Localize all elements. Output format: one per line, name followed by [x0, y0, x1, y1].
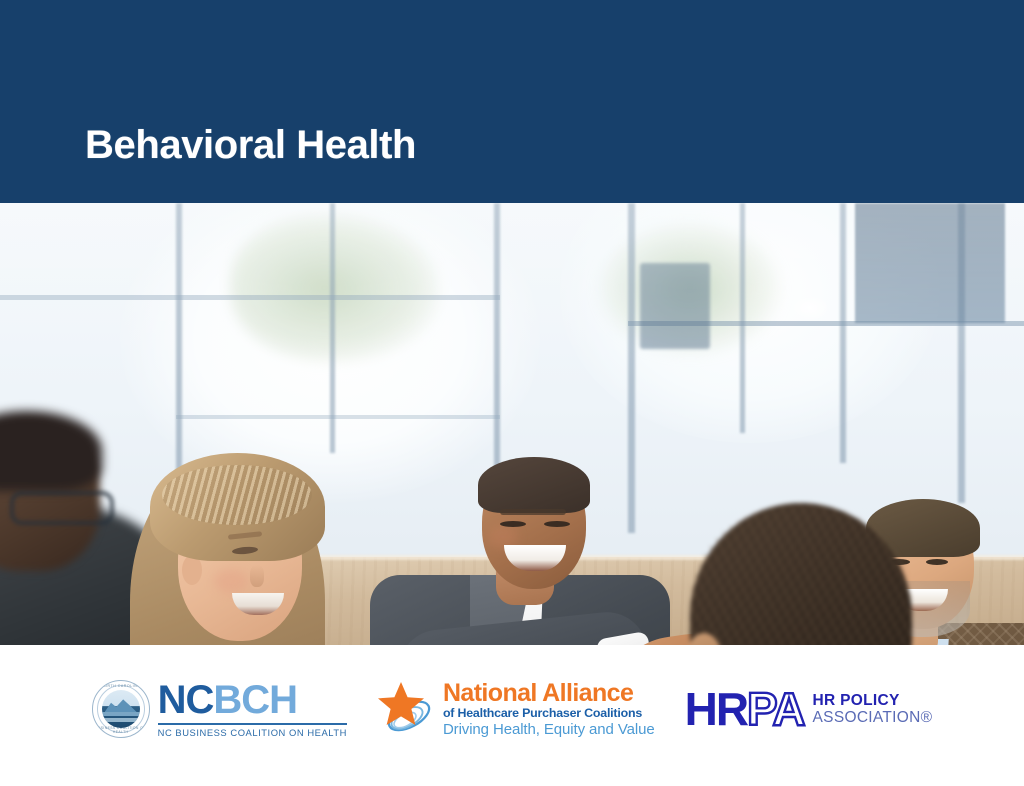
na-line-2: of Healthcare Purchaser Coalitions — [443, 707, 655, 720]
hero-photo — [0, 203, 1024, 645]
man-grey-suit-eyebrows — [500, 509, 566, 515]
photo-top-haze — [0, 203, 1024, 383]
hrpa-wordmark: HR POLICY ASSOCIATION® — [813, 692, 933, 727]
ncbch-nc: NC — [158, 678, 214, 722]
hrpa-mark-hr: HR — [685, 683, 747, 735]
ncbch-divider — [158, 723, 347, 725]
page-title-line-1: Behavioral Health — [85, 119, 645, 172]
ncbch-letters: NCBCH — [158, 680, 347, 720]
seal-landscape — [102, 690, 140, 728]
logo-hrpa[interactable]: HRPA HR POLICY ASSOCIATION® — [685, 686, 933, 732]
man-navy-suit-group — [650, 503, 990, 645]
woman-hair-highlights — [162, 465, 312, 525]
na-line-1: National Alliance — [443, 681, 655, 707]
logo-ncbch[interactable]: NORTH CAROLINA BUSINESS COALITION ON HEA… — [92, 680, 347, 738]
na-line-3: Driving Health, Equity and Value — [443, 722, 655, 737]
header-band: Behavioral Health Vendor Engagement Temp… — [0, 0, 1024, 203]
window-mullion — [176, 415, 500, 419]
man-grey-suit-eye-left — [500, 521, 526, 527]
woman-nose — [250, 565, 264, 587]
ncbch-wordmark: NCBCH NC BUSINESS COALITION ON HEALTH — [158, 680, 347, 738]
hrpa-mark: HRPA — [685, 686, 804, 732]
cover-page: Behavioral Health Vendor Engagement Temp… — [0, 0, 1024, 786]
hrpa-line-2: ASSOCIATION® — [813, 709, 933, 726]
mountain-icon — [105, 698, 137, 712]
ncbch-tagline: NC BUSINESS COALITION ON HEALTH — [158, 727, 347, 738]
hrpa-mark-pa: PA — [747, 683, 804, 735]
water-wave — [102, 718, 140, 722]
man-grey-suit-eye-right — [544, 521, 570, 527]
logo-national-alliance[interactable]: National Alliance of Healthcare Purchase… — [377, 680, 655, 738]
logo-row: NORTH CAROLINA BUSINESS COALITION ON HEA… — [0, 669, 1024, 749]
woman-cheek — [214, 569, 248, 593]
star-swoosh-icon — [377, 680, 437, 738]
eyeglasses-icon — [10, 491, 114, 525]
star-swoosh-svg — [377, 680, 437, 738]
hrpa-line-1: HR POLICY — [813, 692, 933, 709]
national-alliance-wordmark: National Alliance of Healthcare Purchase… — [443, 681, 655, 737]
water-wave — [102, 712, 140, 716]
ncbch-bch: BCH — [213, 678, 297, 722]
logo-footer: NORTH CAROLINA BUSINESS COALITION ON HEA… — [0, 645, 1024, 786]
man-navy-suit-hair-texture — [690, 503, 912, 645]
seal-text-top: NORTH CAROLINA — [93, 684, 149, 688]
ncbch-seal-icon: NORTH CAROLINA BUSINESS COALITION ON HEA… — [92, 680, 150, 738]
man-grey-suit-hair — [478, 457, 590, 513]
